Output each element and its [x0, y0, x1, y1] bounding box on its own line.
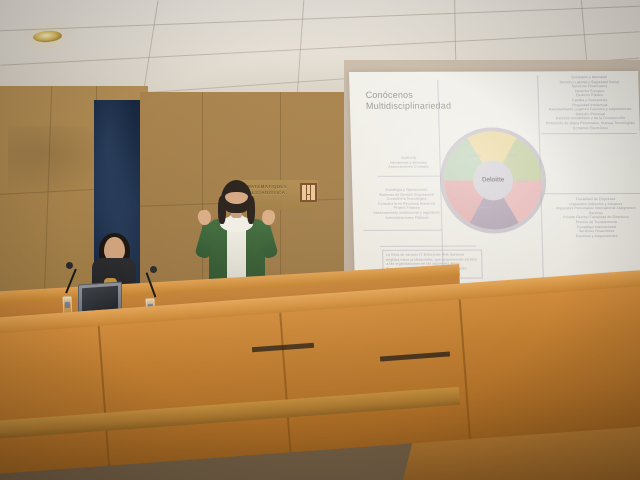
services-wheel: Auditoría Legal Fiscal Risk Services Del…: [443, 131, 544, 229]
divider-risk-line: [380, 246, 476, 247]
list-item: Administraciones Públicas: [365, 215, 449, 220]
presenter-hair-strand-left: [218, 196, 226, 224]
faculty-sign-line1: MATEMÀTIQUES: [247, 184, 287, 189]
microphone-head-right: [150, 266, 157, 273]
donut-center-brand: Deloitte: [473, 160, 514, 200]
deloitte-wordmark: Deloitte: [482, 176, 504, 183]
list-item: Asesoramiento Contable: [380, 165, 438, 170]
segment-label-legal: Legal: [499, 153, 525, 157]
list-item: Asesoramiento institucional y regulatori…: [365, 211, 449, 216]
segment-label-fiscal: Fiscal: [510, 179, 536, 183]
fiscal-callout: Fiscalidad de Empresas Impuestos Indirec…: [551, 197, 640, 239]
divider-cons-line: [363, 230, 441, 231]
divider-legal-line: [541, 133, 637, 134]
microphone-head-left: [66, 262, 73, 269]
projection-screen-slide: Conócenos Multidisciplinariedad Auditorí…: [349, 71, 640, 300]
segment-label-risk: Risk Services: [469, 205, 495, 209]
faculty-sign-line2: I ESTADÍSTICA: [249, 190, 286, 195]
slide-title-line1: Conócenos: [366, 90, 414, 100]
list-item: Impuestos Personales/ International Assi…: [551, 206, 640, 215]
conference-room-photo: MATEMÀTIQUES I ESTADÍSTICA Conócenos Mul…: [0, 0, 640, 480]
auditoria-callout: Auditoría Revisiones e informes Asesoram…: [379, 156, 437, 170]
upc-logo-icon: [300, 183, 317, 202]
consultoria-callout: Estrategia y Operaciones Sistemas de Ges…: [364, 188, 449, 220]
divider-fiscal-line: [542, 193, 640, 194]
divider-audit-line: [378, 176, 440, 177]
segment-label-auditoria: Auditoría: [461, 153, 487, 157]
list-item: Fusiones y Adquisiciones: [552, 234, 640, 239]
presenter-hair-strand-right: [247, 196, 255, 224]
list-item: Protección de Datos Personales, Nuevas T…: [542, 121, 638, 131]
legal-callout: Societario y Mercantil Derecho Laboral y…: [541, 75, 639, 130]
